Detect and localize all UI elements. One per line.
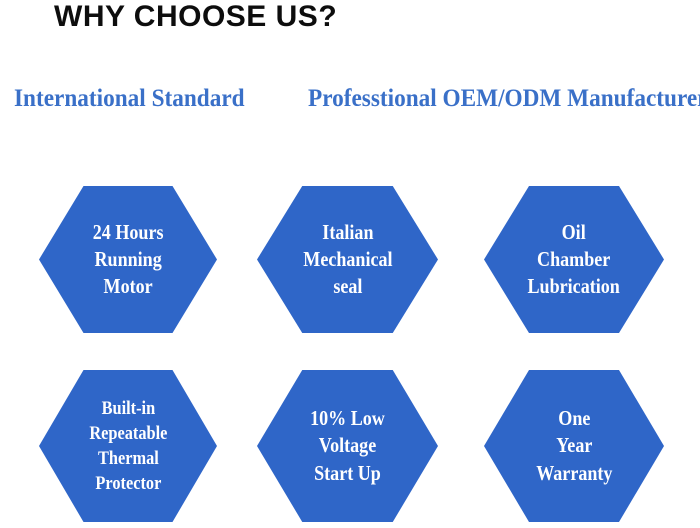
- page-title: WHY CHOOSE US?: [54, 0, 337, 35]
- feature-hexagon-italian-mechanical-seal[interactable]: Italian Mechanical seal: [257, 186, 438, 333]
- feature-label: 10% Low Voltage Start Up: [310, 405, 385, 487]
- feature-label-line: Protector: [89, 471, 167, 496]
- feature-label: One Year Warranty: [536, 405, 612, 487]
- feature-label-line: Built-in: [89, 396, 167, 421]
- feature-label-line: Thermal: [89, 446, 167, 471]
- feature-label-line: Motor: [93, 273, 164, 300]
- feature-label-line: Lubrication: [528, 273, 620, 300]
- feature-label: Built-in Repeatable Thermal Protector: [89, 396, 167, 496]
- feature-hexagon-built-in-repeatable-thermal-protector[interactable]: Built-in Repeatable Thermal Protector: [39, 370, 217, 522]
- why-choose-us-slide: WHY CHOOSE US? International Standard Pr…: [0, 0, 700, 528]
- feature-hexagon-24-hours-running-motor[interactable]: 24 Hours Running Motor: [39, 186, 217, 333]
- feature-label-line: Mechanical: [303, 246, 392, 273]
- feature-label: Italian Mechanical seal: [303, 219, 392, 301]
- feature-label: Oil Chamber Lubrication: [528, 219, 620, 301]
- feature-label: 24 Hours Running Motor: [93, 219, 164, 301]
- feature-label-line: seal: [303, 273, 392, 300]
- feature-label-line: Year: [536, 432, 612, 459]
- feature-label-line: 24 Hours: [93, 219, 164, 246]
- feature-label-line: One: [536, 405, 612, 432]
- feature-hexagon-10-percent-low-voltage-start-up[interactable]: 10% Low Voltage Start Up: [257, 370, 438, 522]
- feature-hexagon-one-year-warranty[interactable]: One Year Warranty: [484, 370, 664, 522]
- feature-label-line: Oil: [528, 219, 620, 246]
- feature-hexagon-oil-chamber-lubrication[interactable]: Oil Chamber Lubrication: [484, 186, 664, 333]
- section-heading-international-standard: International Standard: [14, 86, 245, 112]
- feature-label-line: Running: [93, 246, 164, 273]
- feature-label-line: Warranty: [536, 460, 612, 487]
- feature-label-line: Chamber: [528, 246, 620, 273]
- feature-label-line: Voltage: [310, 432, 385, 459]
- feature-label-line: Italian: [303, 219, 392, 246]
- feature-label-line: 10% Low: [310, 405, 385, 432]
- feature-label-line: Start Up: [310, 460, 385, 487]
- feature-label-line: Repeatable: [89, 421, 167, 446]
- section-heading-oem-odm-manufacturer: Professtional OEM/ODM Manufacturer: [308, 86, 700, 112]
